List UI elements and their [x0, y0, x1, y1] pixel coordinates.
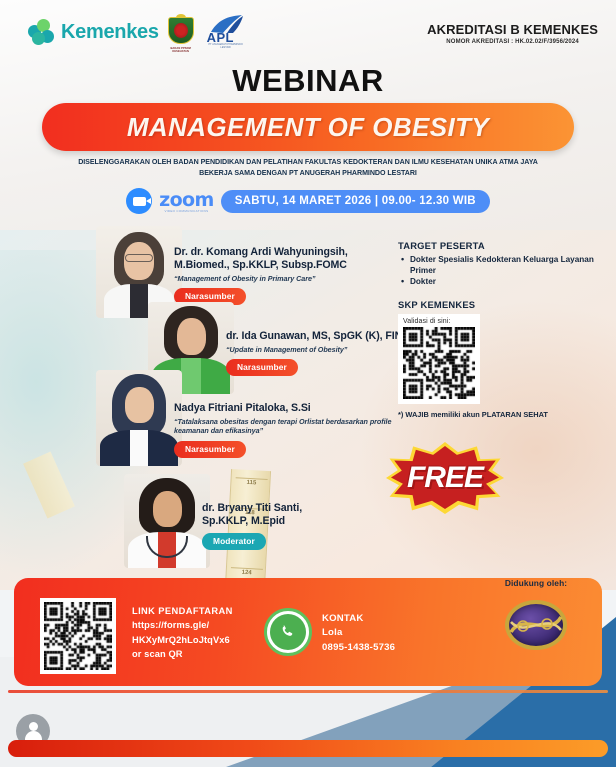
skp-heading: SKP KEMENKES [398, 299, 608, 310]
speaker-name-1: Dr. dr. Komang Ardi Wahyuningsih, [174, 246, 398, 259]
contact-heading: KONTAK [322, 612, 395, 626]
speaker-role-badge-4: Moderator [202, 533, 266, 550]
speaker-photo-4 [124, 474, 210, 568]
webinar-eyebrow: WEBINAR [0, 63, 616, 99]
divider-line [8, 690, 608, 693]
speaker-topic-3: “Tatalaksana obesitas dengan terapi Orli… [174, 417, 404, 436]
accreditation-title: AKREDITASI B KEMENKES [427, 22, 598, 37]
speaker-topic-1: “Management of Obesity in Primary Care” [174, 274, 398, 283]
bppsdm-seal-icon: BADAN PPSDM KESEHATAN [166, 15, 196, 49]
title-banner: MANAGEMENT OF OBESITY [42, 103, 574, 151]
organizer-text: DISELENGGARAKAN OLEH BADAN PENDIDIKAN DA… [30, 157, 586, 179]
speaker-photo-3 [96, 370, 182, 466]
speaker-name-4-line2: Sp.KKLP, M.Epid [202, 515, 432, 528]
target-item-0: Dokter Spesialis Kedokteran Keluarga Lay… [401, 255, 608, 277]
apl-logo-icon: APL PT ANUGERAH PHARMINDO LESTARI [203, 14, 249, 50]
target-list: Dokter Spesialis Kedokteran Keluarga Lay… [401, 255, 608, 287]
registration-qr-card[interactable] [40, 598, 116, 674]
kemenkes-icon [28, 19, 54, 45]
registration-url-line-1[interactable]: https://forms.gle/ [132, 618, 282, 632]
speaker-name-1-line2: M.Biomed., Sp.KKLP, Subsp.FOMC [174, 259, 398, 272]
skp-qr-label: Validasi di sini: [403, 318, 475, 325]
registration-scan-hint: or scan QR [132, 647, 282, 661]
zoom-wordmark: zoom [159, 189, 214, 211]
free-badge-label: FREE [386, 442, 504, 514]
contact-info: KONTAK Lola 0895-1438-5736 [322, 612, 395, 655]
zoom-subtext: VIDEO COMMUNICATIONS [159, 209, 214, 213]
accreditation-block: AKREDITASI B KEMENKES NOMOR AKREDITASI :… [427, 22, 598, 45]
sponsor-logo-icon [499, 594, 573, 656]
kemenkes-wordmark: Kemenkes [61, 21, 159, 44]
sponsor-block: Didukung oleh: [476, 578, 596, 656]
contact-name: Lola [322, 626, 395, 640]
registration-url-line-2[interactable]: HKXyMrQ2hLoJtqVx6 [132, 633, 282, 647]
bottom-accent-bar [8, 740, 608, 757]
organizer-line-1: DISELENGGARAKAN OLEH BADAN PENDIDIKAN DA… [30, 157, 586, 168]
whatsapp-icon[interactable] [264, 608, 312, 656]
skp-note: *) WAJIB memiliki akun PLATARAN SEHAT [398, 410, 608, 420]
page-title: MANAGEMENT OF OBESITY [127, 112, 489, 143]
contact-phone: 0895-1438-5736 [322, 641, 395, 655]
organizer-line-2: BEKERJA SAMA DENGAN PT ANUGERAH PHARMIND… [30, 168, 586, 179]
seal-caption: BADAN PPSDM KESEHATAN [166, 47, 196, 53]
free-badge: FREE [386, 442, 504, 514]
speaker-card-3: Nadya Fitriani Pitaloka, S.Si “Tatalaksa… [96, 370, 396, 466]
sponsor-label: Didukung oleh: [476, 578, 596, 588]
speaker-name-3: Nadya Fitriani Pitaloka, S.Si [174, 402, 404, 415]
info-column: TARGET PESERTA Dokter Spesialis Kedokter… [398, 240, 608, 420]
speaker-role-badge-3: Narasumber [174, 441, 246, 458]
webinar-poster: Kemenkes BADAN PPSDM KESEHATAN APL PT AN… [0, 0, 616, 767]
apl-subtext: PT ANUGERAH PHARMINDO LESTARI [204, 43, 248, 49]
registration-heading: LINK PENDAFTARAN [132, 604, 282, 618]
speaker-card-4: dr. Bryany Titi Santi, Sp.KKLP, M.Epid M… [124, 474, 424, 568]
speaker-info-3: Nadya Fitriani Pitaloka, S.Si “Tatalaksa… [174, 402, 404, 458]
target-heading: TARGET PESERTA [398, 240, 608, 251]
event-schedule-row: zoom VIDEO COMMUNICATIONS SABTU, 14 MARE… [0, 188, 616, 214]
accreditation-number: NOMOR AKREDITASI : HK.02.02/F/3956/2024 [427, 39, 598, 45]
partner-logos: Kemenkes BADAN PPSDM KESEHATAN APL PT AN… [28, 14, 249, 50]
target-item-1: Dokter [401, 277, 608, 288]
schedule-badge: SABTU, 14 MARET 2026 | 09.00- 12.30 WIB [221, 190, 490, 213]
skp-qr-card[interactable]: Validasi di sini: [398, 314, 480, 404]
registration-info: LINK PENDAFTARAN https://forms.gle/ HKXy… [132, 604, 282, 662]
zoom-logo: zoom VIDEO COMMUNICATIONS [159, 189, 214, 213]
poster-header: Kemenkes BADAN PPSDM KESEHATAN APL PT AN… [0, 0, 616, 58]
skp-qr-code[interactable] [403, 327, 475, 399]
tape-mark-3: 124 [231, 567, 263, 577]
speaker-info-1: Dr. dr. Komang Ardi Wahyuningsih, M.Biom… [174, 246, 398, 305]
video-camera-icon [126, 188, 152, 214]
